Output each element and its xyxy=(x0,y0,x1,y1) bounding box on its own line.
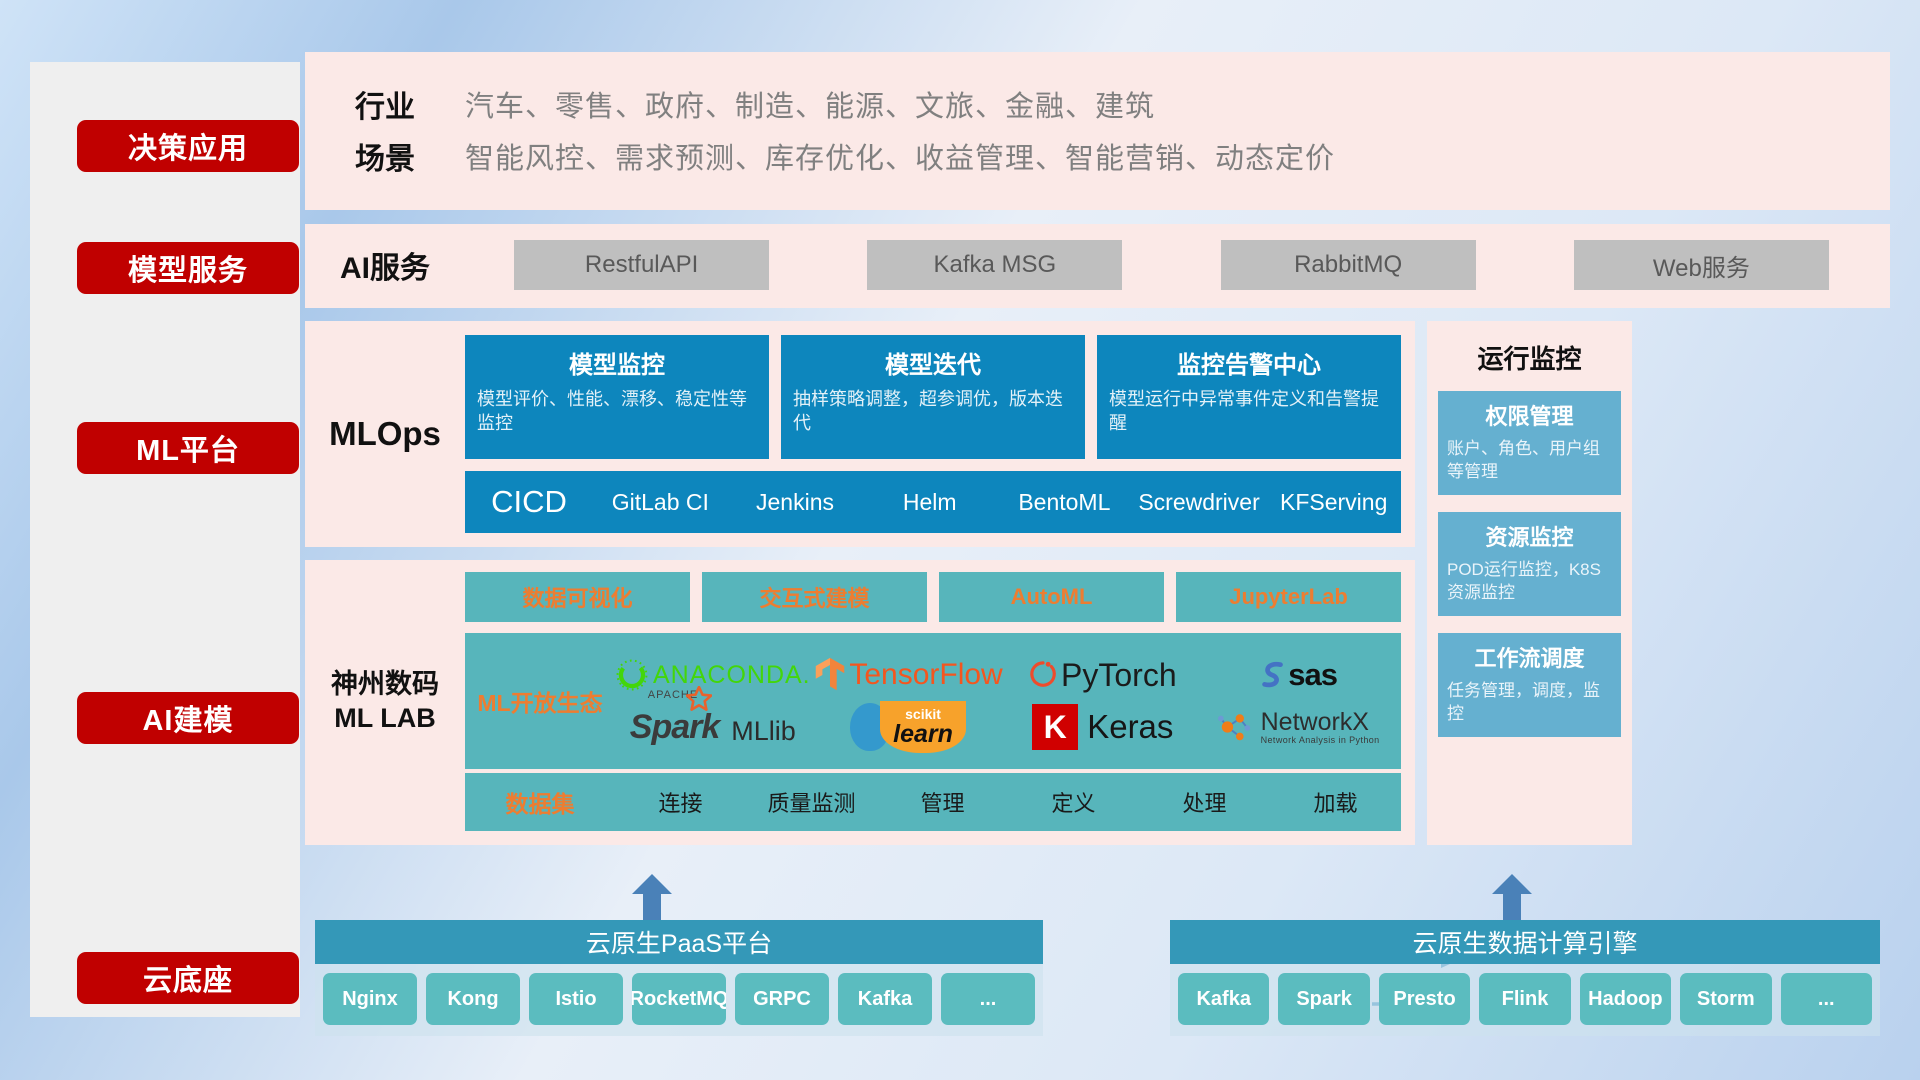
rail-chip-cloud-base[interactable]: 云底座 xyxy=(77,952,299,1004)
scenario-label: 场景 xyxy=(305,134,465,178)
rail-chip-ai-modeling[interactable]: AI建模 xyxy=(77,692,299,744)
monitor-card-workflow[interactable]: 工作流调度 任务管理，调度，监控 xyxy=(1438,633,1621,737)
ml-ecosystem-label: ML开放生态 xyxy=(465,684,615,718)
ml-lab-tab-automl[interactable]: AutoML xyxy=(939,572,1164,622)
ml-lab-label-line1: 神州数码 xyxy=(331,668,439,702)
engine-chip-flink[interactable]: Flink xyxy=(1479,973,1570,1025)
anaconda-logo: ANACONDA. xyxy=(615,658,811,692)
tensorflow-logo: TensorFlow xyxy=(813,656,1002,694)
up-arrow-paas-icon xyxy=(630,874,674,920)
networkx-logo: NetworkX Network Analysis in Python xyxy=(1216,709,1380,745)
up-arrow-engine-icon xyxy=(1490,874,1534,920)
operations-monitor-rail: 运行监控 权限管理 账户、角色、用户组等管理 资源监控 POD运行监控，K8S资… xyxy=(1427,321,1632,845)
mlops-card-alert-center[interactable]: 监控告警中心 模型运行中异常事件定义和告警提醒 xyxy=(1097,335,1401,459)
cloud-chip-grpc[interactable]: GRPC xyxy=(735,973,829,1025)
dataset-row: 数据集 连接 质量监测 管理 定义 处理 加载 xyxy=(465,773,1401,831)
ml-lab-band: 神州数码 ML LAB 数据可视化 交互式建模 AutoML JupyterLa… xyxy=(305,560,1415,845)
sas-logo: sas xyxy=(1258,657,1337,693)
cloud-engine-group: 云原生数据计算引擎 Kafka Spark Presto Flink Hadoo… xyxy=(1170,920,1880,1036)
dataset-item-process[interactable]: 处理 xyxy=(1139,786,1270,818)
ml-lab-label-line2: ML LAB xyxy=(334,702,436,736)
scikit-learn-logo: scikit learn xyxy=(850,701,966,753)
card-desc: 任务管理，调度，监控 xyxy=(1447,679,1612,726)
card-title: 模型迭代 xyxy=(793,345,1073,380)
scenario-row: 场景 智能风控、需求预测、库存优化、收益管理、智能营销、动态定价 xyxy=(305,134,1890,178)
dataset-label: 数据集 xyxy=(465,785,615,819)
ml-lab-tab-data-visualization[interactable]: 数据可视化 xyxy=(465,572,690,622)
networkx-graph-icon xyxy=(1216,709,1256,745)
cicd-label: CICD xyxy=(465,484,593,520)
cloud-paas-group: 云原生PaaS平台 Nginx Kong Istio RocketMQ GRPC… xyxy=(315,920,1043,1036)
monitor-card-permission[interactable]: 权限管理 账户、角色、用户组等管理 xyxy=(1438,391,1621,495)
rail-chip-label: ML平台 xyxy=(136,427,240,469)
pytorch-mark-icon xyxy=(1029,658,1057,692)
card-desc: 抽样策略调整，超参调优，版本迭代 xyxy=(793,387,1073,436)
tensorflow-wordmark: TensorFlow xyxy=(849,658,1002,692)
ml-ecosystem-row: ML开放生态 ANACONDA. xyxy=(465,633,1401,769)
keras-wordmark: Keras xyxy=(1087,708,1173,746)
card-desc: 模型运行中异常事件定义和告警提醒 xyxy=(1109,387,1389,436)
rail-chip-label: 决策应用 xyxy=(128,125,248,167)
cloud-chip-istio[interactable]: Istio xyxy=(529,973,623,1025)
cicd-item-jenkins[interactable]: Jenkins xyxy=(728,487,863,517)
scenario-values: 智能风控、需求预测、库存优化、收益管理、智能营销、动态定价 xyxy=(465,135,1335,177)
cloud-paas-chips: Nginx Kong Istio RocketMQ GRPC Kafka ... xyxy=(315,964,1043,1036)
ml-lab-tab-interactive-modeling[interactable]: 交互式建模 xyxy=(702,572,927,622)
anaconda-mark-icon xyxy=(615,658,649,692)
decision-apps-band: 行业 汽车、零售、政府、制造、能源、文旅、金融、建筑 场景 智能风控、需求预测、… xyxy=(305,52,1890,210)
mlops-label: MLOps xyxy=(305,335,465,533)
platform-column: MLOps 模型监控 模型评价、性能、漂移、稳定性等监控 模型迭代 抽样策略调整… xyxy=(305,321,1415,845)
ai-service-items: RestfulAPI Kafka MSG RabbitMQ Web服务 xyxy=(465,240,1890,290)
card-title: 工作流调度 xyxy=(1447,641,1612,673)
engine-chip-more[interactable]: ... xyxy=(1781,973,1872,1025)
spark-wordmark: Spark xyxy=(630,708,720,747)
card-title: 监控告警中心 xyxy=(1109,345,1389,380)
industry-values: 汽车、零售、政府、制造、能源、文旅、金融、建筑 xyxy=(465,83,1155,125)
rail-chip-label: AI建模 xyxy=(142,697,233,739)
cicd-item-screwdriver[interactable]: Screwdriver xyxy=(1132,487,1267,517)
rail-chip-model-service[interactable]: 模型服务 xyxy=(77,242,299,294)
cloud-engine-chips: Kafka Spark Presto Flink Hadoop Storm ..… xyxy=(1170,964,1880,1036)
dataset-item-connect[interactable]: 连接 xyxy=(615,786,746,818)
pytorch-logo: PyTorch xyxy=(1029,657,1177,694)
ai-service-band: AI服务 RestfulAPI Kafka MSG RabbitMQ Web服务 xyxy=(305,224,1890,308)
spark-mllib-logo: APACHE Spark MLlib xyxy=(630,708,796,747)
spark-star-icon xyxy=(686,686,712,712)
ai-service-item-kafka-msg[interactable]: Kafka MSG xyxy=(867,240,1122,290)
ai-service-item-rabbitmq[interactable]: RabbitMQ xyxy=(1221,240,1476,290)
ml-lab-content: 数据可视化 交互式建模 AutoML JupyterLab ML开放生态 xyxy=(465,572,1415,831)
cloud-chip-kafka[interactable]: Kafka xyxy=(838,973,932,1025)
learn-text: learn xyxy=(893,721,953,747)
cicd-item-kfserving[interactable]: KFServing xyxy=(1266,487,1401,517)
ai-service-item-web[interactable]: Web服务 xyxy=(1574,240,1829,290)
rail-chip-ml-platform[interactable]: ML平台 xyxy=(77,422,299,474)
dataset-item-quality[interactable]: 质量监测 xyxy=(746,786,877,818)
networkx-wordmark: NetworkX xyxy=(1261,710,1380,735)
mlops-cards: 模型监控 模型评价、性能、漂移、稳定性等监控 模型迭代 抽样策略调整，超参调优，… xyxy=(465,335,1401,459)
ai-service-label: AI服务 xyxy=(305,243,465,287)
cicd-item-helm[interactable]: Helm xyxy=(862,487,997,517)
ml-lab-tab-jupyterlab[interactable]: JupyterLab xyxy=(1176,572,1401,622)
mlops-card-model-iteration[interactable]: 模型迭代 抽样策略调整，超参调优，版本迭代 xyxy=(781,335,1085,459)
architecture-main: 行业 汽车、零售、政府、制造、能源、文旅、金融、建筑 场景 智能风控、需求预测、… xyxy=(305,52,1890,845)
rail-chip-label: 云底座 xyxy=(143,957,233,999)
monitor-card-resource[interactable]: 资源监控 POD运行监控，K8S资源监控 xyxy=(1438,512,1621,616)
mlops-band: MLOps 模型监控 模型评价、性能、漂移、稳定性等监控 模型迭代 抽样策略调整… xyxy=(305,321,1415,547)
cloud-paas-title: 云原生PaaS平台 xyxy=(315,920,1043,964)
sas-wordmark: sas xyxy=(1288,657,1337,693)
engine-chip-spark[interactable]: Spark xyxy=(1278,973,1369,1025)
cloud-chip-more[interactable]: ... xyxy=(941,973,1035,1025)
anaconda-wordmark: ANACONDA. xyxy=(653,661,811,690)
card-desc: POD运行监控，K8S资源监控 xyxy=(1447,558,1612,605)
ml-lab-tabs: 数据可视化 交互式建模 AutoML JupyterLab xyxy=(465,572,1401,622)
scikit-text: scikit xyxy=(905,707,941,721)
ml-lab-label: 神州数码 ML LAB xyxy=(305,572,465,831)
engine-chip-presto[interactable]: Presto xyxy=(1379,973,1470,1025)
card-title: 模型监控 xyxy=(477,345,757,380)
rail-chip-decision-apps[interactable]: 决策应用 xyxy=(77,120,299,172)
keras-logo: K Keras xyxy=(1032,704,1173,750)
mllib-wordmark: MLlib xyxy=(731,716,796,747)
operations-monitor-title: 运行监控 xyxy=(1438,339,1621,376)
cicd-bar: CICD GitLab CI Jenkins Helm BentoML Scre… xyxy=(465,471,1401,533)
ml-ecosystem-logos: ANACONDA. TensorFlow xyxy=(615,649,1401,753)
keras-mark-text: K xyxy=(1044,709,1067,746)
sas-mark-icon xyxy=(1258,659,1288,691)
mlops-card-model-monitoring[interactable]: 模型监控 模型评价、性能、漂移、稳定性等监控 xyxy=(465,335,769,459)
cloud-foundation: 云原生PaaS平台 Nginx Kong Istio RocketMQ GRPC… xyxy=(305,880,1890,1050)
layer-rail: 决策应用 模型服务 ML平台 AI建模 云底座 xyxy=(30,62,300,1017)
card-title: 权限管理 xyxy=(1447,399,1612,431)
dataset-item-load[interactable]: 加载 xyxy=(1270,786,1401,818)
card-desc: 模型评价、性能、漂移、稳定性等监控 xyxy=(477,387,757,436)
engine-chip-kafka[interactable]: Kafka xyxy=(1178,973,1269,1025)
cloud-chip-rocketmq[interactable]: RocketMQ xyxy=(632,973,726,1025)
pytorch-wordmark: PyTorch xyxy=(1061,657,1177,694)
engine-chip-hadoop[interactable]: Hadoop xyxy=(1580,973,1671,1025)
cloud-chip-nginx[interactable]: Nginx xyxy=(323,973,417,1025)
cicd-item-gitlab-ci[interactable]: GitLab CI xyxy=(593,487,728,517)
card-title: 资源监控 xyxy=(1447,520,1612,552)
networkx-tagline: Network Analysis in Python xyxy=(1261,735,1380,745)
card-desc: 账户、角色、用户组等管理 xyxy=(1447,437,1612,484)
dataset-item-manage[interactable]: 管理 xyxy=(877,786,1008,818)
tensorflow-mark-icon xyxy=(813,656,847,694)
cloud-engine-title: 云原生数据计算引擎 xyxy=(1170,920,1880,964)
cloud-chip-kong[interactable]: Kong xyxy=(426,973,520,1025)
rail-chip-label: 模型服务 xyxy=(128,247,248,289)
cicd-item-bentoml[interactable]: BentoML xyxy=(997,487,1132,517)
mlops-content: 模型监控 模型评价、性能、漂移、稳定性等监控 模型迭代 抽样策略调整，超参调优，… xyxy=(465,335,1415,533)
dataset-item-define[interactable]: 定义 xyxy=(1008,786,1139,818)
industry-label: 行业 xyxy=(305,82,465,126)
ai-service-item-restfulapi[interactable]: RestfulAPI xyxy=(514,240,769,290)
platform-row: MLOps 模型监控 模型评价、性能、漂移、稳定性等监控 模型迭代 抽样策略调整… xyxy=(305,321,1890,845)
industry-row: 行业 汽车、零售、政府、制造、能源、文旅、金融、建筑 xyxy=(305,82,1890,126)
engine-chip-storm[interactable]: Storm xyxy=(1680,973,1771,1025)
